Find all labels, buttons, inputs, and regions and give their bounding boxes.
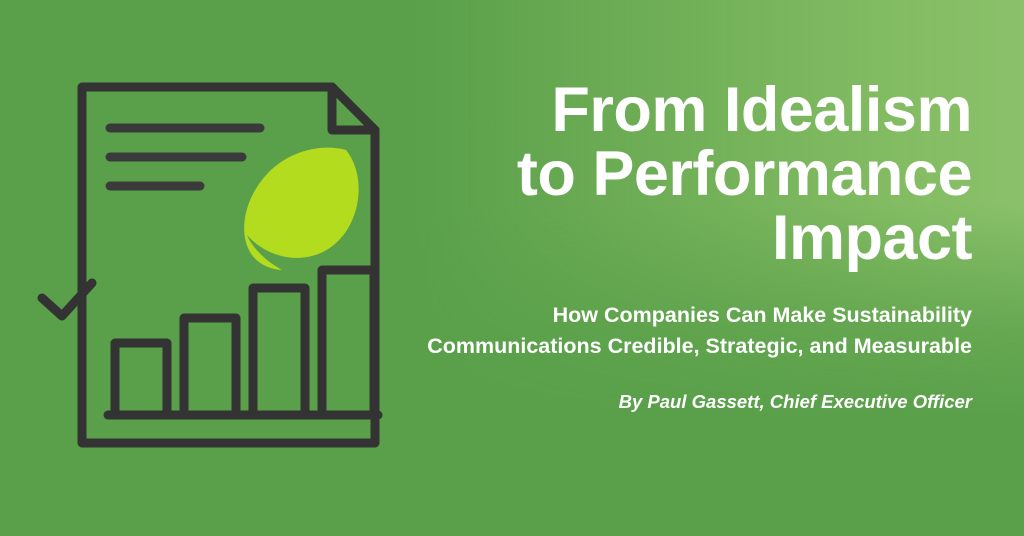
leaf-icon [244, 148, 358, 270]
page-title: From Idealism to Performance Impact [352, 78, 972, 270]
page-subtitle: How Companies Can Make Sustainability Co… [352, 300, 972, 362]
headline-text-block: From Idealism to Performance Impact How … [352, 78, 972, 413]
document-outline [82, 87, 375, 443]
bar-3 [253, 288, 305, 415]
bar-1 [115, 343, 167, 415]
subtitle-line-2: Communications Credible, Strategic, and … [352, 331, 972, 362]
author-byline: By Paul Gassett, Chief Executive Officer [352, 391, 972, 413]
subtitle-line-1: How Companies Can Make Sustainability [352, 300, 972, 331]
headline-line-2: to Performance [352, 142, 972, 206]
bar-2 [184, 318, 236, 415]
headline-line-1: From Idealism [352, 78, 972, 142]
article-hero-banner: From Idealism to Performance Impact How … [0, 0, 1024, 536]
headline-line-3: Impact [352, 206, 972, 270]
